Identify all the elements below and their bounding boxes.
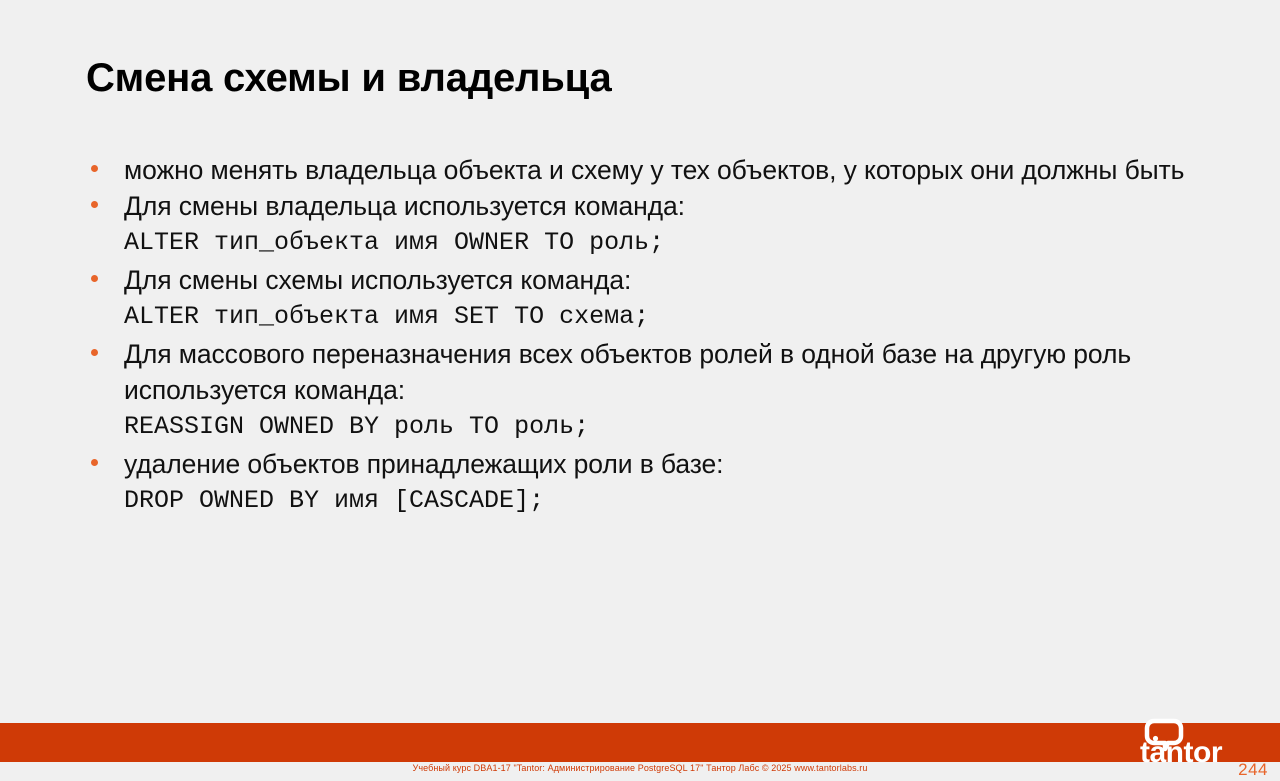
page-number: 244 xyxy=(1238,760,1268,780)
tantor-wordmark: tantor xyxy=(1140,736,1223,764)
tantor-logo-svg: tantor xyxy=(1140,718,1262,764)
bullet-dot-icon xyxy=(91,201,98,208)
list-item: Для смены владельца используется команда… xyxy=(86,188,1196,262)
tantor-logo: tantor xyxy=(1140,718,1262,764)
footer-accent-bar xyxy=(0,723,1280,762)
list-item: можно менять владельца объекта и схему у… xyxy=(86,152,1196,188)
page-title: Смена схемы и владельца xyxy=(86,56,612,101)
list-item-label: можно менять владельца объекта и схему у… xyxy=(124,152,1196,188)
list-item-label: Для смены схемы используется команда: xyxy=(124,262,1196,298)
code-snippet: REASSIGN OWNED BY роль TO роль; xyxy=(124,408,1196,446)
bullet-dot-icon xyxy=(91,165,98,172)
slide: Смена схемы и владельца можно менять вла… xyxy=(0,0,1280,781)
code-snippet: ALTER тип_объекта имя OWNER TO роль; xyxy=(124,224,1196,262)
bullet-dot-icon xyxy=(91,459,98,466)
list-item: Для смены схемы используется команда: AL… xyxy=(86,262,1196,336)
bullet-dot-icon xyxy=(91,275,98,282)
footer-credit-text: Учебный курс DBA1-17 "Tantor: Администри… xyxy=(0,762,1280,775)
list-item-label: Для массового переназначения всех объект… xyxy=(124,336,1196,408)
list-item: удаление объектов принадлежащих роли в б… xyxy=(86,446,1196,520)
code-snippet: DROP OWNED BY имя [CASCADE]; xyxy=(124,482,1196,520)
list-item-label: Для смены владельца используется команда… xyxy=(124,188,1196,224)
list-item-label: удаление объектов принадлежащих роли в б… xyxy=(124,446,1196,482)
list-item: Для массового переназначения всех объект… xyxy=(86,336,1196,446)
bullet-dot-icon xyxy=(91,349,98,356)
bullet-list: можно менять владельца объекта и схему у… xyxy=(86,152,1196,520)
code-snippet: ALTER тип_объекта имя SET TO схема; xyxy=(124,298,1196,336)
